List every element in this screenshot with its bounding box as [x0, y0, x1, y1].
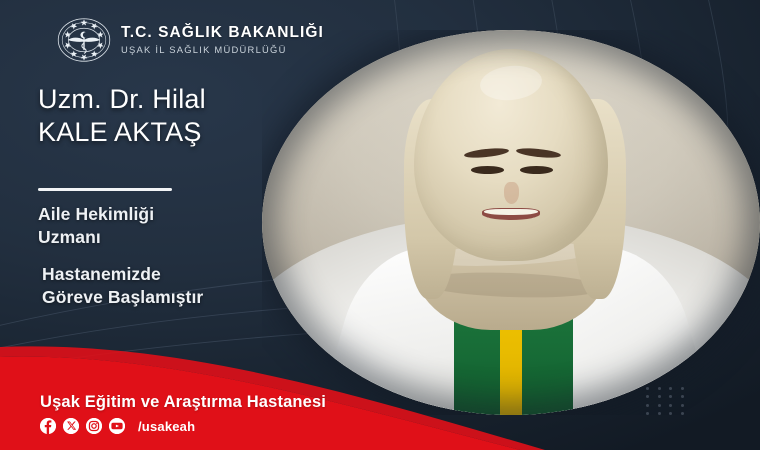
ministry-subtitle: UŞAK İL SAĞLIK MÜDÜRLÜĞÜ — [121, 43, 324, 56]
youtube-icon[interactable] — [109, 418, 125, 434]
x-twitter-icon[interactable] — [63, 418, 79, 434]
facebook-icon[interactable] — [40, 418, 56, 434]
doctor-photo — [262, 30, 760, 415]
social-links-row[interactable]: /usakeah — [40, 418, 326, 434]
doctor-name-line2: KALE AKTAŞ — [38, 116, 206, 149]
social-handle[interactable]: /usakeah — [138, 419, 195, 434]
doctor-specialty: Aile Hekimliği Uzmanı — [38, 203, 154, 249]
poster-canvas: T.C. SAĞLIK BAKANLIĞI UŞAK İL SAĞLIK MÜD… — [0, 0, 760, 450]
hospital-name: Uşak Eğitim ve Araştırma Hastanesi — [40, 391, 326, 413]
specialty-line2: Uzmanı — [38, 226, 154, 249]
doctor-name: Uzm. Dr. Hilal KALE AKTAŞ — [38, 83, 206, 149]
ministry-title: T.C. SAĞLIK BAKANLIĞI — [121, 24, 324, 42]
footer-content: Uşak Eğitim ve Araştırma Hastanesi — [40, 391, 326, 434]
specialty-line1: Aile Hekimliği — [38, 203, 154, 226]
doctor-name-line1: Uzm. Dr. Hilal — [38, 83, 206, 116]
dot-grid-decoration — [642, 384, 688, 418]
ministry-of-health-emblem-icon — [56, 12, 112, 68]
instagram-icon[interactable] — [86, 418, 102, 434]
status-line2: Göreve Başlamıştır — [42, 286, 203, 309]
divider-rule — [38, 188, 172, 191]
doctor-status: Hastanemizde Göreve Başlamıştır — [42, 263, 203, 309]
ministry-logo-block: T.C. SAĞLIK BAKANLIĞI UŞAK İL SAĞLIK MÜD… — [56, 12, 324, 68]
status-line1: Hastanemizde — [42, 263, 203, 286]
